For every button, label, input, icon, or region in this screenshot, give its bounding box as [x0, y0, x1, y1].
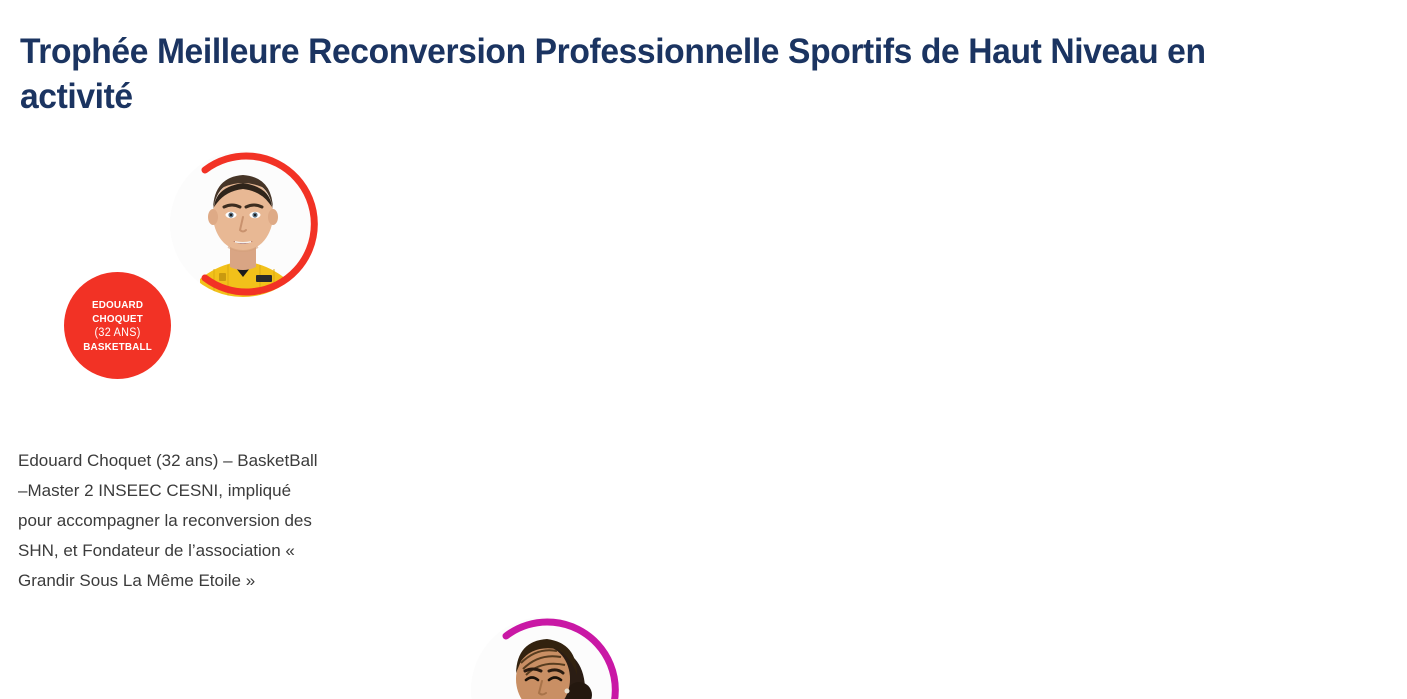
badge-sport-line1: BASKETBALL: [83, 340, 152, 354]
fatia-benmessahel-portrait-image: [471, 617, 617, 699]
athlete-card[interactable]: EDOUARD CHOQUET (32 ANS) BASKETBALL Edou…: [0, 130, 352, 596]
portrait-wrapper: [468, 614, 620, 699]
trophy-section: Trophée Meilleure Reconversion Professio…: [0, 0, 1407, 699]
portrait-wrapper: [167, 148, 319, 300]
athlete-caption: Edouard Choquet (32 ans) – BasketBall –M…: [18, 446, 318, 596]
badge-name-line2: CHOQUET: [83, 312, 152, 326]
portrait-photo: [471, 617, 617, 699]
athlete-badge[interactable]: EDOUARD CHOQUET (32 ANS) BASKETBALL: [64, 272, 171, 379]
edouard-choquet-portrait-image: [170, 151, 316, 297]
badge-age: (32 ANS): [83, 326, 152, 340]
athlete-card[interactable]: FATIA BENMESSAHEL (19 ANS) BOXE ANGLAISE…: [0, 596, 352, 699]
athlete-figure: FATIA BENMESSAHEL (19 ANS) BOXE ANGLAISE: [0, 596, 352, 699]
athlete-figure: EDOUARD CHOQUET (32 ANS) BASKETBALL: [0, 130, 352, 460]
page-title: Trophée Meilleure Reconversion Professio…: [20, 29, 1249, 119]
badge-text: EDOUARD CHOQUET (32 ANS) BASKETBALL: [83, 298, 152, 354]
badge-name-line1: EDOUARD: [83, 298, 152, 312]
portrait-photo: [170, 151, 316, 297]
athlete-grid: EDOUARD CHOQUET (32 ANS) BASKETBALL Edou…: [0, 130, 1407, 690]
